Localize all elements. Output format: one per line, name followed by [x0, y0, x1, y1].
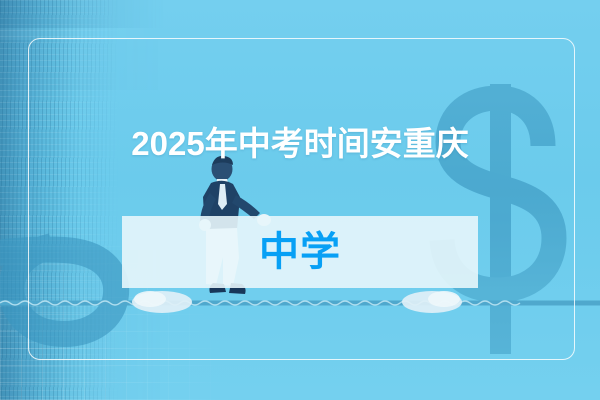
subtitle-panel: 中学: [122, 216, 478, 288]
tightrope-icon: [0, 296, 600, 308]
hand-grip-right-icon: [398, 286, 468, 316]
promo-banner: 2025年中考时间安重庆 中学: [0, 0, 600, 400]
banner-subtitle: 中学: [259, 230, 341, 274]
banner-title: 2025年中考时间安重庆: [0, 124, 600, 164]
